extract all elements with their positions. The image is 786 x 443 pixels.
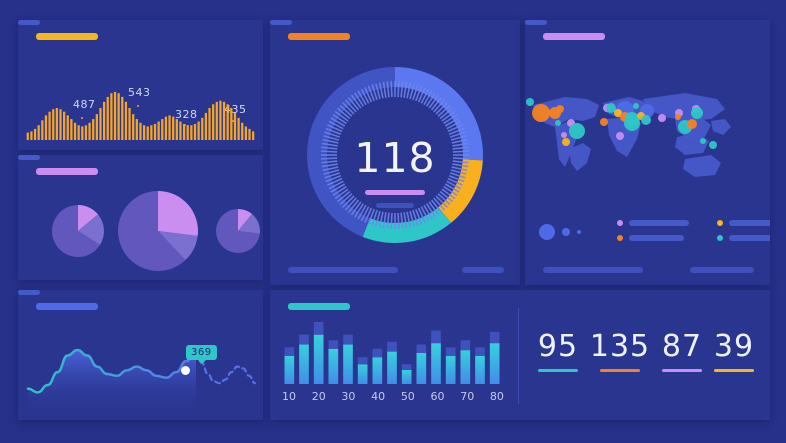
legend-entry[interactable] xyxy=(717,220,770,226)
kpi-row: 951358739 xyxy=(532,332,760,372)
card-title-bar xyxy=(36,33,98,40)
legend-color-dot xyxy=(617,220,623,226)
kpi-underline xyxy=(662,369,702,372)
card-menu-bar[interactable] xyxy=(18,290,40,295)
legend-label-bar xyxy=(629,220,689,226)
legend-size-dot-1 xyxy=(562,228,570,236)
kpi-item[interactable]: 95 xyxy=(538,332,578,372)
bar-axis-label-20: 20 xyxy=(312,390,326,403)
pie-large-center[interactable] xyxy=(118,191,198,271)
bar-axis-label-30: 30 xyxy=(341,390,355,403)
legend-entry[interactable] xyxy=(717,235,770,241)
bar-axis-label-70: 70 xyxy=(460,390,474,403)
card-divider xyxy=(518,308,519,404)
card-title-bar xyxy=(543,33,605,40)
legend-size-scale xyxy=(539,224,581,240)
line-trend-card[interactable]: 369 xyxy=(18,290,263,420)
bar-chart-card[interactable]: 1020304050607080 951358739 xyxy=(270,290,770,420)
kpi-underline xyxy=(600,369,640,372)
card-title-bar xyxy=(288,33,350,40)
kpi-underline xyxy=(538,369,578,372)
gauge-center-value: 118 xyxy=(270,138,520,179)
legend-color-dot xyxy=(717,220,723,226)
pie-group-card[interactable] xyxy=(18,155,263,280)
bar-axis-label-50: 50 xyxy=(401,390,415,403)
card-menu-bar[interactable] xyxy=(18,155,40,160)
legend-entry[interactable] xyxy=(617,220,689,226)
card-menu-bar[interactable] xyxy=(270,20,292,25)
card-menu-bar[interactable] xyxy=(18,20,40,25)
card-title-bar xyxy=(36,303,98,310)
pie-small-right[interactable] xyxy=(216,209,260,253)
bar-axis-label-60: 60 xyxy=(431,390,445,403)
wave-bars xyxy=(26,92,255,140)
card-menu-bar[interactable] xyxy=(525,20,547,25)
legend-label-bar xyxy=(629,235,684,241)
kpi-underline xyxy=(714,369,754,372)
bar-axis-label-10: 10 xyxy=(282,390,296,403)
donut-gauge-card[interactable]: 118 xyxy=(270,20,520,285)
legend-color-dot xyxy=(717,235,723,241)
gauge-underline-primary xyxy=(365,190,425,195)
pie-small-left[interactable] xyxy=(52,205,104,257)
kpi-value: 87 xyxy=(662,332,702,362)
world-map-card[interactable] xyxy=(525,20,770,285)
card-title-bar xyxy=(288,303,350,310)
card-footer-bar-left xyxy=(543,267,643,273)
card-title-bar xyxy=(36,168,98,175)
legend-entry[interactable] xyxy=(617,235,684,241)
map-legend xyxy=(539,220,759,250)
kpi-value: 39 xyxy=(714,332,754,362)
legend-size-dot-0 xyxy=(539,224,555,240)
kpi-value: 95 xyxy=(538,332,578,362)
line-tooltip: 369 xyxy=(186,345,217,360)
kpi-item[interactable]: 135 xyxy=(590,332,650,372)
card-footer-bar-right xyxy=(462,267,504,273)
bar-axis-label-80: 80 xyxy=(490,390,504,403)
card-footer-bar-right xyxy=(690,267,754,273)
kpi-item[interactable]: 39 xyxy=(714,332,754,372)
kpi-item[interactable]: 87 xyxy=(662,332,702,372)
gauge-underline-secondary xyxy=(376,203,414,208)
legend-size-dot-2 xyxy=(577,230,581,234)
world-map[interactable] xyxy=(525,75,770,215)
legend-label-bar xyxy=(729,220,770,226)
dashboard: 487 543 328 435 118 xyxy=(0,0,786,443)
line-marker-dot[interactable] xyxy=(181,366,190,375)
kpi-value: 135 xyxy=(590,332,650,362)
legend-color-dot xyxy=(617,235,623,241)
area-wave-card[interactable]: 487 543 328 435 xyxy=(18,20,263,150)
bar-axis-label-40: 40 xyxy=(371,390,385,403)
card-footer-bar-left xyxy=(288,267,398,273)
legend-label-bar xyxy=(729,235,770,241)
stacked-bars[interactable] xyxy=(282,322,502,384)
trend-line[interactable] xyxy=(18,340,263,415)
bar-axis: 1020304050607080 xyxy=(282,390,504,403)
